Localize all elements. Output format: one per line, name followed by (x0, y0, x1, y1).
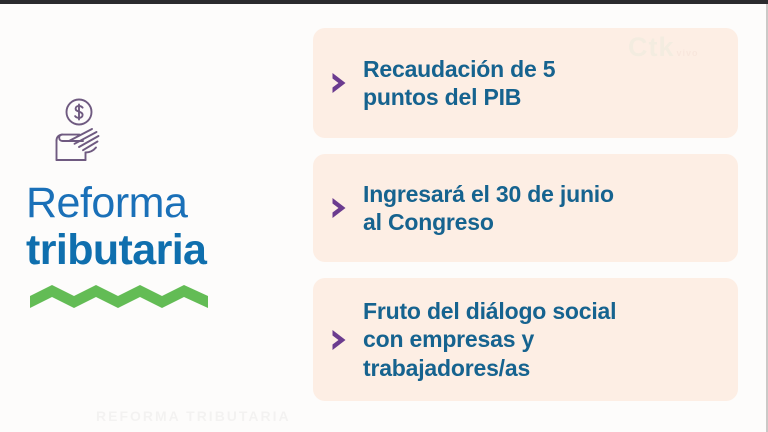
lower-third-residue: REFORMA TRIBUTARIA (96, 408, 416, 426)
brand-title-line-1: Reforma (22, 182, 292, 225)
bullet-card-list: Recaudación de 5 puntos del PIB Ctkvivo … (313, 28, 738, 417)
bullet-card-text: Ingresará el 30 de junio al Congreso (363, 180, 614, 236)
bullet-card-dialogo[interactable]: Fruto del diálogo social con empresas y … (313, 278, 738, 401)
bullet-card-text: Recaudación de 5 puntos del PIB (363, 55, 555, 111)
green-zigzag-underline (30, 285, 208, 319)
bullet-card-text: Fruto del diálogo social con empresas y … (363, 297, 616, 381)
channel-watermark: Ctkvivo (628, 34, 720, 68)
chevron-right-icon (329, 195, 351, 221)
bullet-card-congreso[interactable]: Ingresará el 30 de junio al Congreso (313, 154, 738, 262)
chevron-right-icon (329, 327, 351, 353)
chevron-right-icon (329, 70, 351, 96)
watermark-letters: Ctk (628, 32, 675, 62)
top-letterbox-bar (0, 0, 768, 4)
hand-holding-coin-icon (38, 96, 122, 170)
brand-block: Reforma tributaria (22, 96, 292, 319)
bullet-card-recaudacion[interactable]: Recaudación de 5 puntos del PIB Ctkvivo (313, 28, 738, 138)
brand-title-line-2: tributaria (22, 227, 292, 273)
broadcast-graphic-screen: Reforma tributaria Recaudación de 5 punt… (0, 0, 768, 432)
watermark-suffix: vivo (677, 48, 699, 58)
